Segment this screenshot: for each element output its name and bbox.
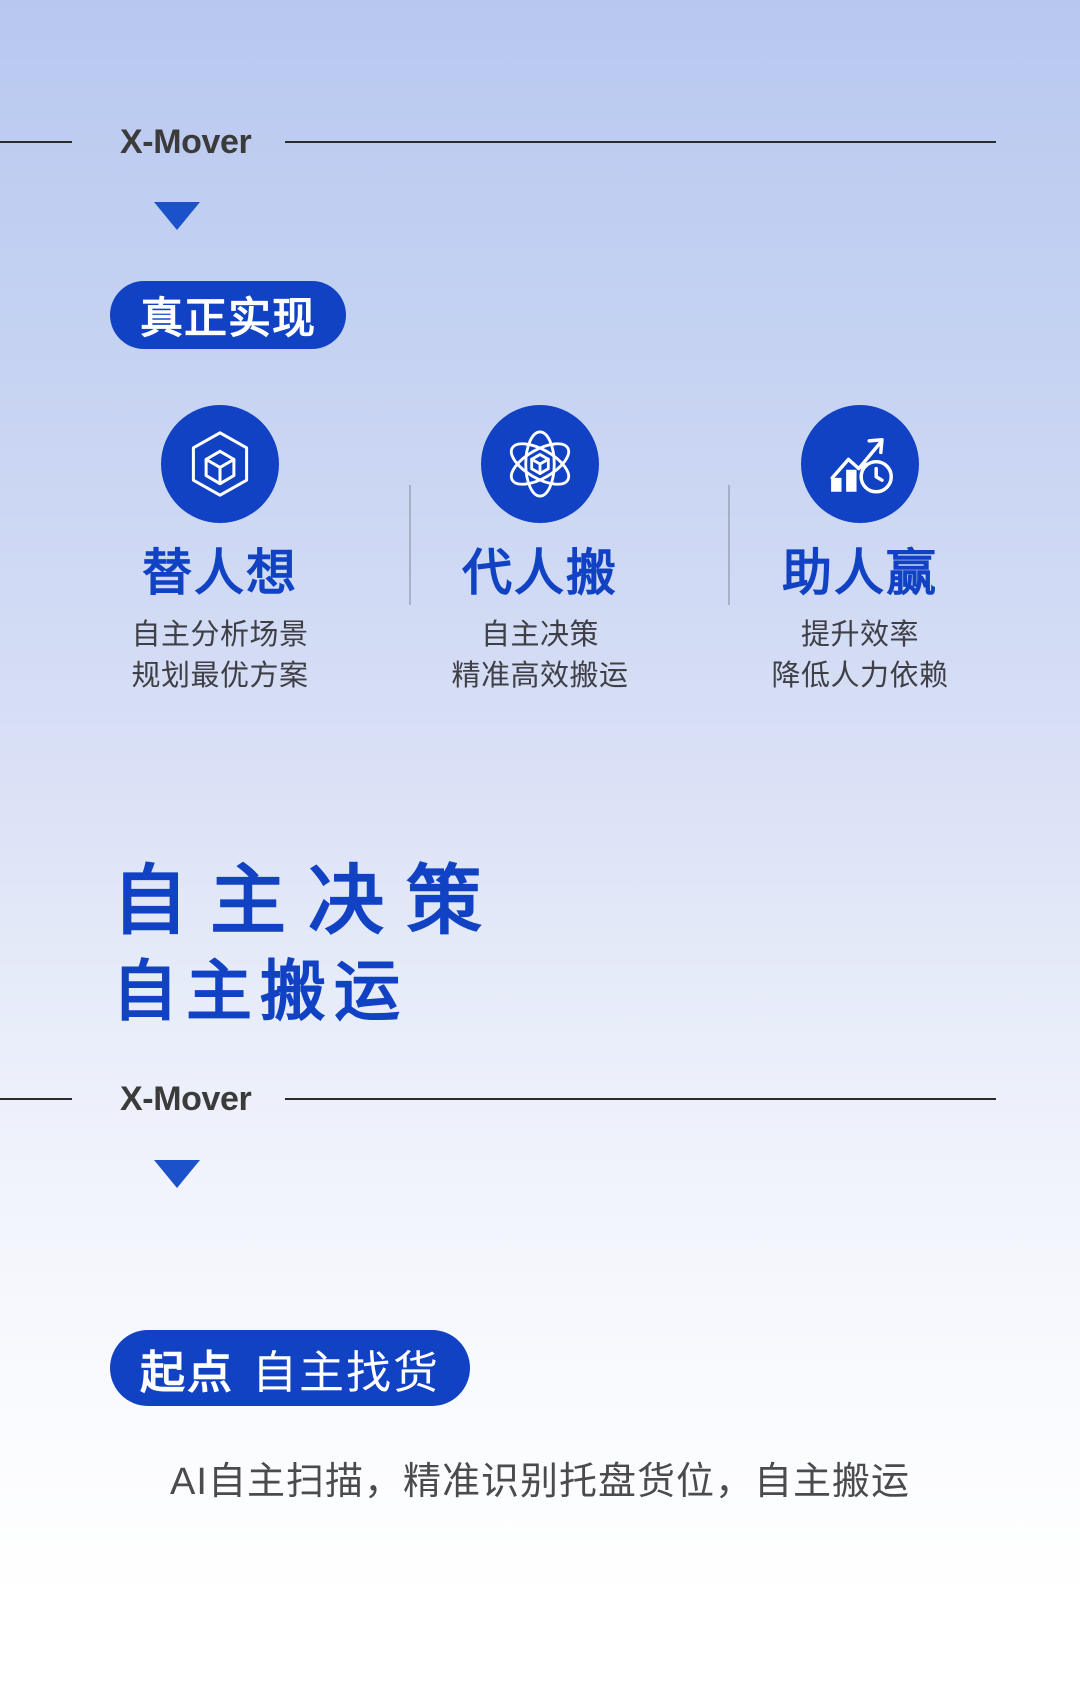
atom-cube-icon: [481, 405, 599, 523]
feature-subtitle: 自主决策 精准高效搬运: [451, 615, 628, 697]
feature-subtitle-line2: 降低人力依赖: [771, 660, 948, 692]
triangle-down-icon-top: [154, 202, 200, 230]
feature-item[interactable]: 助人赢 提升效率 降低人力依赖: [700, 405, 1020, 697]
divider-line-right: [285, 141, 996, 143]
divider-line-right: [285, 1098, 996, 1100]
divider-line-left: [0, 141, 72, 143]
tag-pill-bottom[interactable]: 起点 自主找货: [110, 1330, 470, 1406]
headline-line-1: 自主决策: [112, 862, 504, 941]
feature-title: 代人搬: [462, 545, 618, 601]
feature-separator: [409, 485, 411, 605]
feature-subtitle: 自主分析场景 规划最优方案: [131, 615, 308, 697]
tag-pill-bottom-light: 自主找货: [252, 1336, 440, 1401]
cube-hexagon-icon: [161, 405, 279, 523]
feature-title: 替人想: [142, 545, 298, 601]
feature-list: 替人想 自主分析场景 规划最优方案 代人搬 自主决策 精准高效搬运: [60, 405, 1020, 697]
feature-item[interactable]: 代人搬 自主决策 精准高效搬运: [380, 405, 700, 697]
poster-page: X-Mover 真正实现 替人想 自主分析场景 规划最优方案: [0, 0, 1080, 1682]
brand-divider-top: X-Mover: [0, 114, 1080, 170]
bottom-caption: AI自主扫描，精准识别托盘货位，自主搬运: [0, 1450, 1080, 1505]
page-headline: 自主决策 自主搬运: [112, 862, 504, 1026]
brand-label-top: X-Mover: [72, 125, 285, 159]
feature-subtitle: 提升效率 降低人力依赖: [771, 615, 948, 697]
feature-item[interactable]: 替人想 自主分析场景 规划最优方案: [60, 405, 380, 697]
feature-title: 助人赢: [782, 545, 938, 601]
growth-chart-clock-icon: [801, 405, 919, 523]
feature-subtitle-line2: 精准高效搬运: [451, 660, 628, 692]
tag-pill-top[interactable]: 真正实现: [110, 281, 346, 349]
brand-label-bottom: X-Mover: [72, 1082, 285, 1116]
feature-separator: [728, 485, 730, 605]
headline-line-2: 自主搬运: [112, 957, 504, 1026]
feature-subtitle-line1: 提升效率: [801, 619, 919, 651]
feature-subtitle-line1: 自主决策: [481, 619, 599, 651]
feature-subtitle-line1: 自主分析场景: [131, 619, 308, 651]
tag-pill-top-label: 真正实现: [140, 284, 316, 346]
triangle-down-icon-bottom: [154, 1160, 200, 1188]
tag-pill-bottom-strong: 起点: [140, 1336, 234, 1401]
divider-line-left: [0, 1098, 72, 1100]
feature-subtitle-line2: 规划最优方案: [131, 660, 308, 692]
brand-divider-bottom: X-Mover: [0, 1071, 1080, 1127]
